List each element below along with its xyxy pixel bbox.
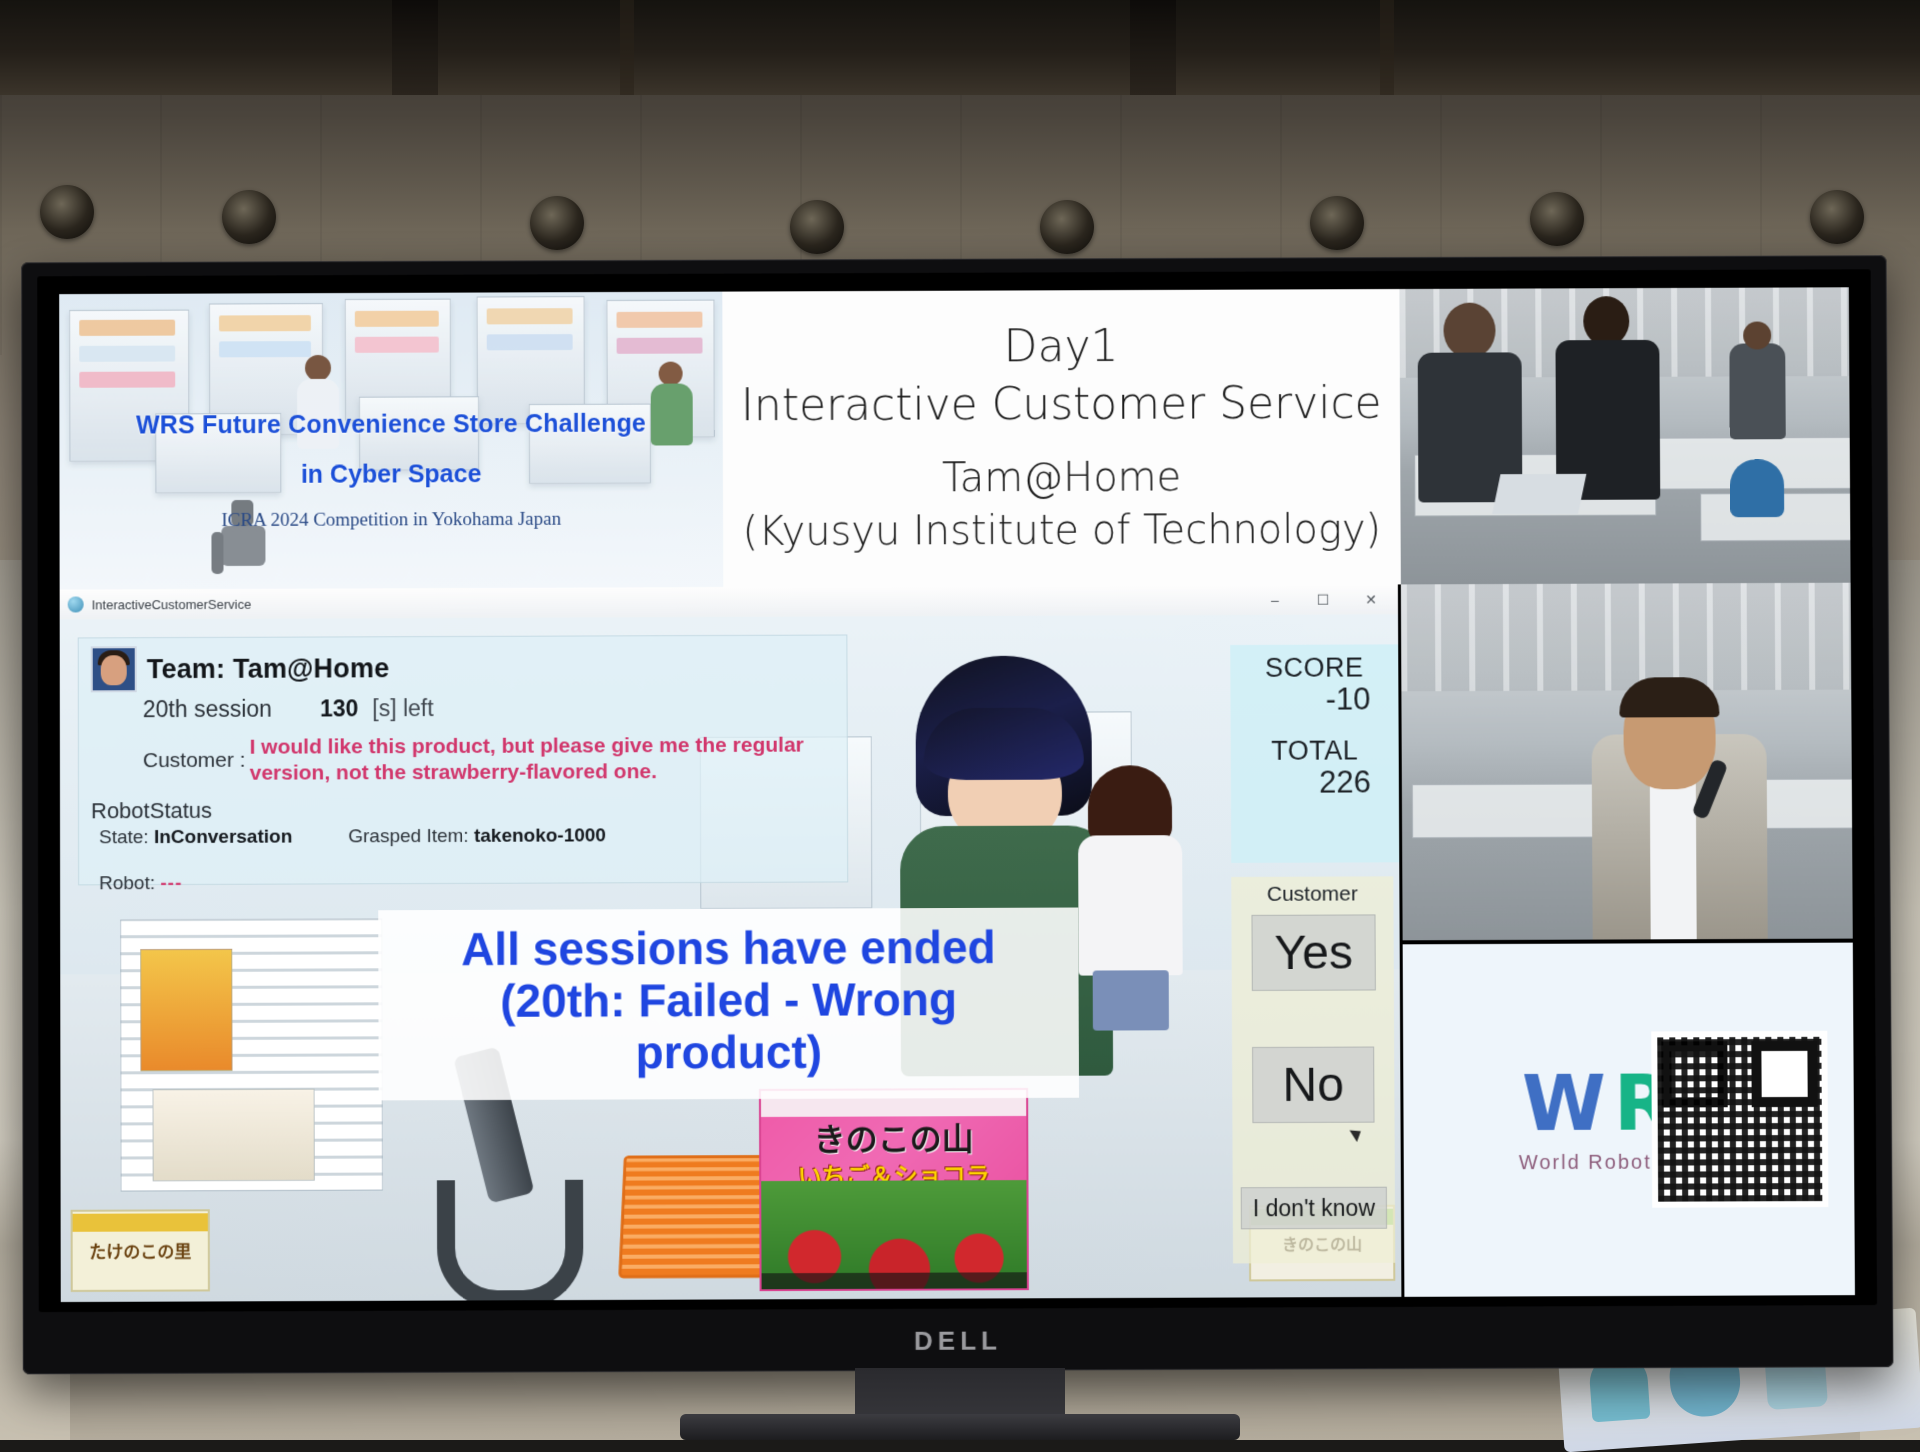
customer-message-line2: version, not the strawberry-flavored one… bbox=[250, 759, 804, 787]
robot-status-label: RobotStatus bbox=[91, 795, 835, 824]
slide-title-main: WRS Future Convenience Store Challenge bbox=[59, 409, 722, 440]
ceiling-beam bbox=[1380, 0, 1394, 95]
interactive-customer-service-window: InteractiveCustomerService – ☐ ✕ bbox=[60, 584, 1405, 1302]
close-button[interactable]: ✕ bbox=[1358, 591, 1384, 608]
brand-logo: DELL bbox=[23, 1322, 1894, 1360]
top-row: WRS Future Convenience Store Challenge i… bbox=[59, 287, 1850, 589]
banner-line-3: product) bbox=[401, 1026, 1058, 1081]
customer-panel-label: Customer bbox=[1239, 882, 1385, 907]
team-affiliation: (Kyusyu Institute of Technology) bbox=[743, 507, 1382, 557]
robot-speech-value: --- bbox=[160, 872, 182, 893]
maximize-button[interactable]: ☐ bbox=[1310, 591, 1336, 608]
answer-yes-button[interactable]: Yes bbox=[1251, 914, 1375, 991]
left-box-name: たけのこの里 bbox=[73, 1237, 208, 1263]
score-panel: SCORE -10 TOTAL 226 bbox=[1230, 644, 1399, 863]
dell-monitor: WRS Future Convenience Store Challenge i… bbox=[21, 255, 1893, 1374]
window-title: InteractiveCustomerService bbox=[92, 596, 252, 612]
slide-caption: ICRA 2024 Competition in Yokohama Japan bbox=[60, 508, 724, 533]
camera-feed-presenter bbox=[1401, 583, 1853, 945]
wall-vent bbox=[1810, 190, 1864, 244]
monitor-bezel: WRS Future Convenience Store Challenge i… bbox=[37, 269, 1877, 1312]
product-package-kinoko: きのこの山 いちご＆ショコラ bbox=[759, 1088, 1029, 1291]
answer-dont-know-button[interactable]: I don't know bbox=[1241, 1187, 1387, 1230]
wrs-branding-panel: W R S World Robot Summit bbox=[1403, 943, 1855, 1297]
shopping-basket bbox=[618, 1155, 780, 1278]
state-label: State: bbox=[99, 827, 149, 848]
camera-feed-booth bbox=[1399, 287, 1850, 584]
day-label: Day1 bbox=[1004, 321, 1119, 373]
grasped-value: takenoko-1000 bbox=[474, 825, 606, 847]
event-name: Interactive Customer Service bbox=[741, 378, 1382, 432]
team-label: Team: Tam@Home bbox=[147, 653, 390, 685]
robot-speech-label: Robot: bbox=[99, 873, 155, 894]
customer-response-panel: Customer Yes No I don't know bbox=[1231, 876, 1395, 1263]
simulation-viewport[interactable]: きのこの山 いちご＆ショコラ たけのこの里 きのこの山 bbox=[60, 614, 1402, 1302]
monitor-screen: WRS Future Convenience Store Challenge i… bbox=[59, 287, 1855, 1302]
hud-column: SCORE -10 TOTAL 226 Customer Yes No I do… bbox=[1230, 644, 1401, 1297]
bottom-row: InteractiveCustomerService – ☐ ✕ bbox=[60, 583, 1855, 1302]
product-stack bbox=[152, 1089, 314, 1182]
session-number: 20th session bbox=[143, 696, 272, 723]
event-title-slide: Day1 Interactive Customer Service Tam@Ho… bbox=[722, 289, 1401, 587]
grasped-label: Grasped Item: bbox=[348, 825, 468, 846]
product-stack bbox=[140, 949, 232, 1071]
customer-label: Customer : bbox=[143, 735, 246, 773]
state-value: InConversation bbox=[154, 826, 292, 848]
virtual-store-render bbox=[59, 292, 723, 590]
time-left-unit: [s] left bbox=[372, 695, 433, 722]
ceiling-truss bbox=[1130, 0, 1176, 95]
customer-message-line1: I would like this product, but please gi… bbox=[250, 733, 804, 761]
wall-vent bbox=[222, 190, 276, 244]
wall-vent bbox=[790, 200, 844, 254]
app-icon bbox=[68, 596, 84, 612]
banner-line-1: All sessions have ended bbox=[400, 922, 1056, 977]
total-label: TOTAL bbox=[1245, 735, 1385, 767]
ceiling-truss bbox=[392, 0, 438, 95]
session-ended-banner: All sessions have ended (20th: Failed - … bbox=[378, 908, 1079, 1101]
snack-name: きのこの山 bbox=[761, 1114, 1026, 1161]
time-left-value: 130 bbox=[320, 695, 358, 722]
mouse-cursor bbox=[1350, 1125, 1365, 1142]
wall-vent bbox=[530, 196, 584, 250]
challenge-slide: WRS Future Convenience Store Challenge i… bbox=[59, 292, 723, 590]
right-camera-column: W R S World Robot Summit bbox=[1401, 583, 1855, 1297]
monitor-stand-base bbox=[680, 1414, 1240, 1440]
wrs-logo-w: W bbox=[1522, 1065, 1606, 1141]
ceiling-beam bbox=[620, 0, 634, 95]
wall-vent bbox=[1310, 196, 1364, 250]
banner-line-2: (20th: Failed - Wrong bbox=[400, 974, 1056, 1029]
product-package-takenoko: たけのこの里 bbox=[71, 1209, 210, 1292]
total-value: 226 bbox=[1245, 764, 1385, 801]
score-value: -10 bbox=[1244, 681, 1384, 718]
score-label: SCORE bbox=[1244, 652, 1384, 684]
wall-vent bbox=[40, 185, 94, 239]
team-name: Tam@Home bbox=[942, 454, 1181, 502]
answer-no-button[interactable]: No bbox=[1252, 1047, 1374, 1124]
snack-footer bbox=[762, 1272, 1027, 1289]
minimize-button[interactable]: – bbox=[1262, 592, 1288, 608]
team-avatar bbox=[91, 646, 137, 692]
wall-vent bbox=[1530, 192, 1584, 246]
secondary-avatar bbox=[1070, 765, 1191, 1066]
qr-code[interactable] bbox=[1651, 1031, 1828, 1208]
ceiling-structure bbox=[0, 0, 1920, 95]
status-overlay: Team: Tam@Home 20th session 130 [s] left… bbox=[78, 635, 849, 886]
slide-title-sub: in Cyber Space bbox=[59, 459, 722, 490]
wall-vent bbox=[1040, 200, 1094, 254]
robot-figure bbox=[209, 492, 329, 587]
